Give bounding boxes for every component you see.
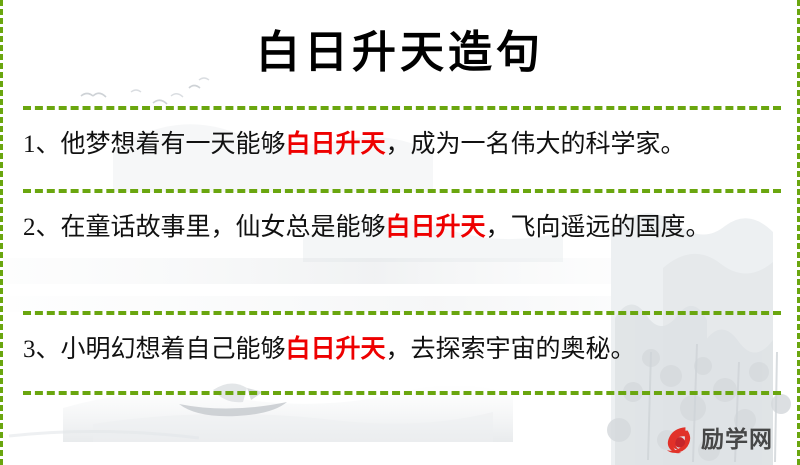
idiom-highlight-2: 白日升天: [386, 212, 486, 241]
sentence-item-2: 2、在童话故事里，仙女总是能够白日升天，飞向遥远的国度。: [3, 193, 797, 311]
sentence-worksheet-page: 白日升天造句 1、他梦想着有一天能够白日升天，成为一名伟大的科学家。 2、在童话…: [0, 0, 800, 465]
sentence-text-after-3: ，去探索宇宙的奥秘。: [386, 334, 636, 363]
sentence-text-before-3: 小明幻想着自己能够: [61, 334, 286, 363]
red-swirl-flame-icon: [661, 423, 695, 457]
divider-bottom: [23, 391, 781, 395]
site-brand-name: 励学网: [701, 429, 773, 452]
page-title-container: 白日升天造句: [3, 0, 797, 106]
sentence-number-1: 1、: [23, 131, 61, 158]
site-watermark: 励学网: [661, 423, 773, 457]
sentence-item-3: 3、小明幻想着自己能够白日升天，去探索宇宙的奥秘。: [3, 315, 797, 391]
sentence-number-3: 3、: [23, 336, 61, 363]
sentence-text-before-2: 在童话故事里，仙女总是能够: [61, 212, 386, 241]
page-title: 白日升天造句: [256, 31, 544, 75]
sentence-text-after-2: ，飞向遥远的国度。: [486, 212, 711, 241]
sentence-text-before-1: 他梦想着有一天能够: [61, 129, 286, 158]
idiom-highlight-3: 白日升天: [286, 334, 386, 363]
sentence-item-1: 1、他梦想着有一天能够白日升天，成为一名伟大的科学家。: [3, 110, 797, 189]
sentence-text-after-1: ，成为一名伟大的科学家。: [386, 129, 686, 158]
idiom-highlight-1: 白日升天: [286, 129, 386, 158]
sentence-number-2: 2、: [23, 214, 61, 241]
